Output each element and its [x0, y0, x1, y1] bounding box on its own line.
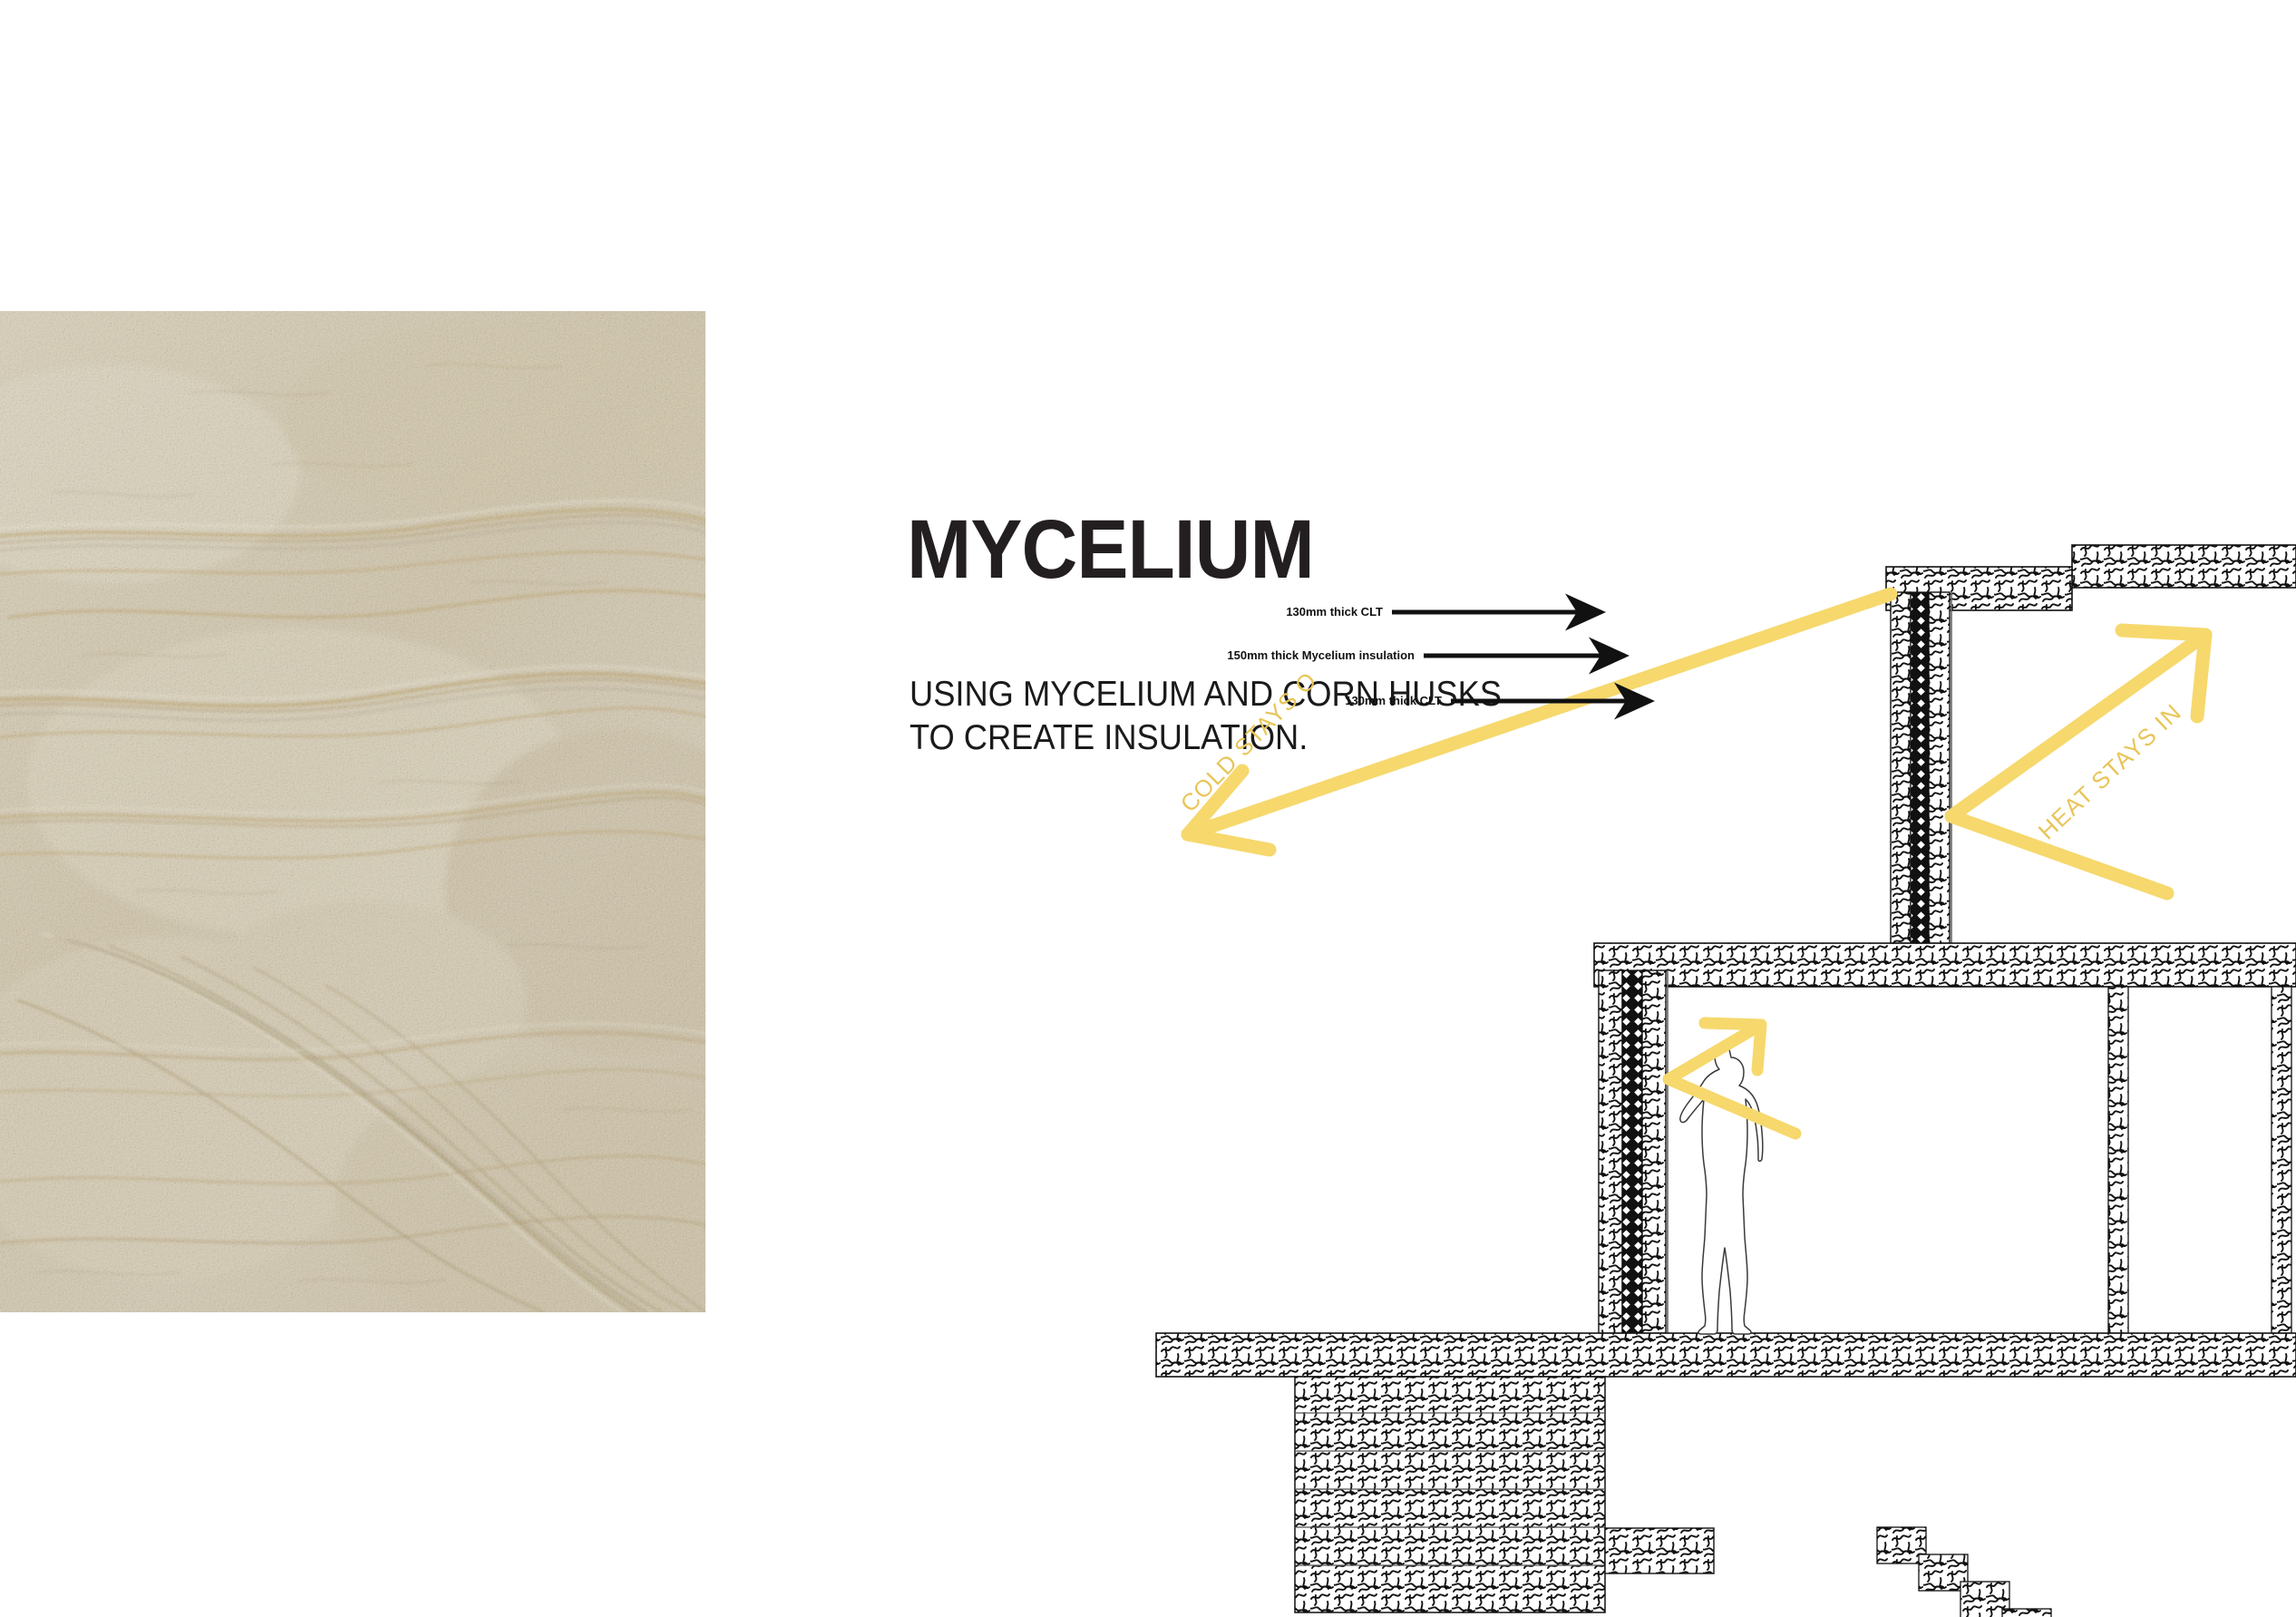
mycelium-core-layer: [1622, 970, 1642, 1333]
upper-roof-slab: [2072, 545, 2296, 588]
annotation-label-1: 150mm thick Mycelium insulation: [1227, 648, 1415, 662]
cold-arrow-label: COLD STAYS OUT: [1152, 522, 1322, 817]
outer-clt-layer: [1599, 970, 1622, 1333]
wall-section-diagram: COLD STAYS OUT HEAT STAYS IN: [1161, 544, 2296, 1617]
annotation-mycelium-core: 150mm thick Mycelium insulation: [1227, 648, 1625, 662]
ground-floor-slab: [1156, 1333, 2296, 1377]
main-exterior-wall: [1599, 970, 1668, 1333]
main-ceiling-slab: [1594, 943, 2296, 987]
material-photo: [0, 311, 705, 1312]
outer-clt-layer-upper: [1891, 592, 1911, 943]
annotation-outer-clt: 130mm thick CLT: [1286, 605, 1601, 619]
interior-partition-wall-2: [2272, 987, 2291, 1333]
inner-clt-layer: [1642, 970, 1666, 1333]
material-photo-render: [0, 311, 705, 1312]
interior-partition-wall-1: [2108, 987, 2128, 1333]
annotation-label-2: 130mm thick CLT: [1345, 694, 1442, 707]
annotation-label-0: 130mm thick CLT: [1286, 605, 1383, 619]
cold-arrow: [1188, 594, 1891, 850]
heat-arrow: [1951, 630, 2205, 893]
heat-arrow-label: HEAT STAYS IN: [2033, 698, 2187, 845]
inner-clt-layer-upper: [1929, 592, 1950, 943]
mycelium-core-layer-upper: [1911, 592, 1929, 943]
stepped-terrace: [1877, 1527, 2093, 1617]
foundation-block: [1295, 1377, 1714, 1612]
wall-section-drawing: COLD STAYS OUT HEAT STAYS IN: [1161, 544, 2296, 1617]
